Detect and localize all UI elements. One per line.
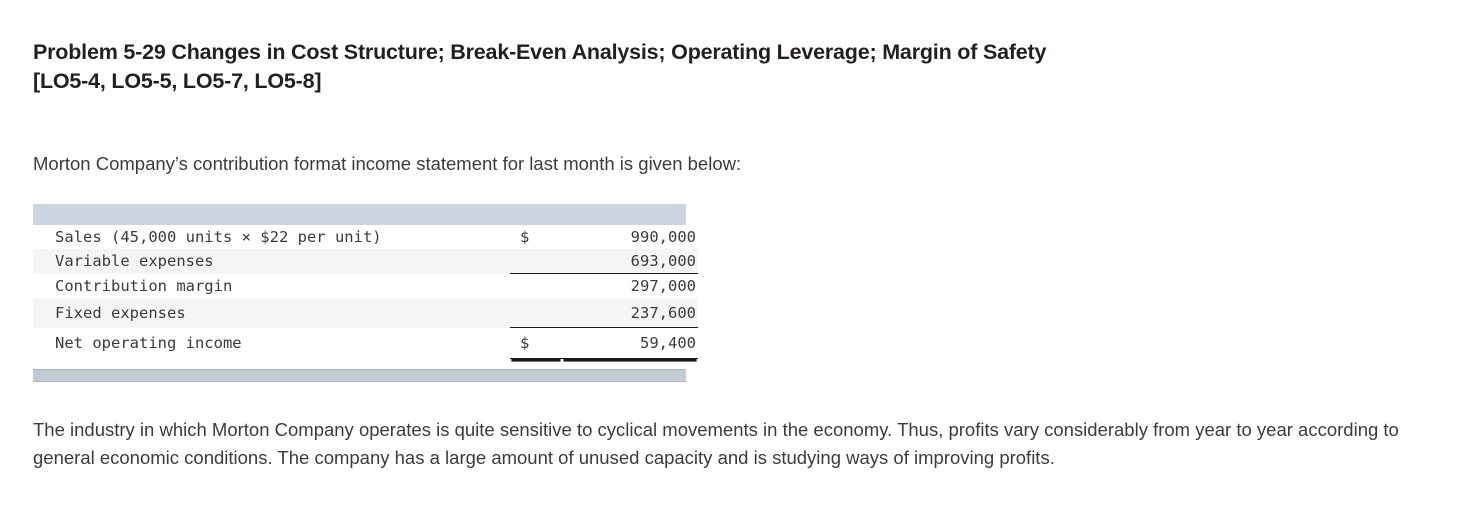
row-amount: 693,000 <box>562 249 698 274</box>
statement-grid: Sales (45,000 units × $22 per unit) $ 99… <box>33 225 698 359</box>
row-amount: 297,000 <box>562 274 698 299</box>
table-row: Sales (45,000 units × $22 per unit) $ 99… <box>33 225 698 249</box>
row-currency-symbol <box>510 274 562 299</box>
row-currency-symbol: $ <box>510 328 562 359</box>
problem-learning-objectives: [LO5-4, LO5-5, LO5-7, LO5-8] <box>33 69 321 93</box>
problem-page: Problem 5-29 Changes in Cost Structure; … <box>0 0 1465 523</box>
table-row: Contribution margin 297,000 <box>33 274 698 299</box>
row-amount: 237,600 <box>562 298 698 328</box>
table-row: Fixed expenses 237,600 <box>33 298 698 328</box>
row-label: Net operating income <box>33 328 510 359</box>
row-amount: 990,000 <box>562 225 698 249</box>
row-currency-symbol <box>510 249 562 274</box>
row-amount: 59,400 <box>562 328 698 359</box>
closing-paragraph: The industry in which Morton Company ope… <box>33 416 1435 472</box>
row-currency-symbol: $ <box>510 225 562 249</box>
table-row: Variable expenses 693,000 <box>33 249 698 274</box>
row-label: Fixed expenses <box>33 298 510 328</box>
row-currency-symbol <box>510 298 562 328</box>
row-label: Variable expenses <box>33 249 510 274</box>
row-label: Sales (45,000 units × $22 per unit) <box>33 225 510 249</box>
statement-footer-bar <box>33 369 686 382</box>
row-label: Contribution margin <box>33 274 510 299</box>
income-statement-table: Sales (45,000 units × $22 per unit) $ 99… <box>33 204 686 382</box>
table-row: Net operating income $ 59,400 <box>33 328 698 359</box>
page-title: Problem 5-29 Changes in Cost Structure; … <box>33 38 1423 96</box>
intro-paragraph: Morton Company’s contribution format inc… <box>33 152 1233 176</box>
problem-title-line-1: Problem 5-29 Changes in Cost Structure; … <box>33 40 1046 64</box>
statement-header-bar <box>33 204 686 225</box>
